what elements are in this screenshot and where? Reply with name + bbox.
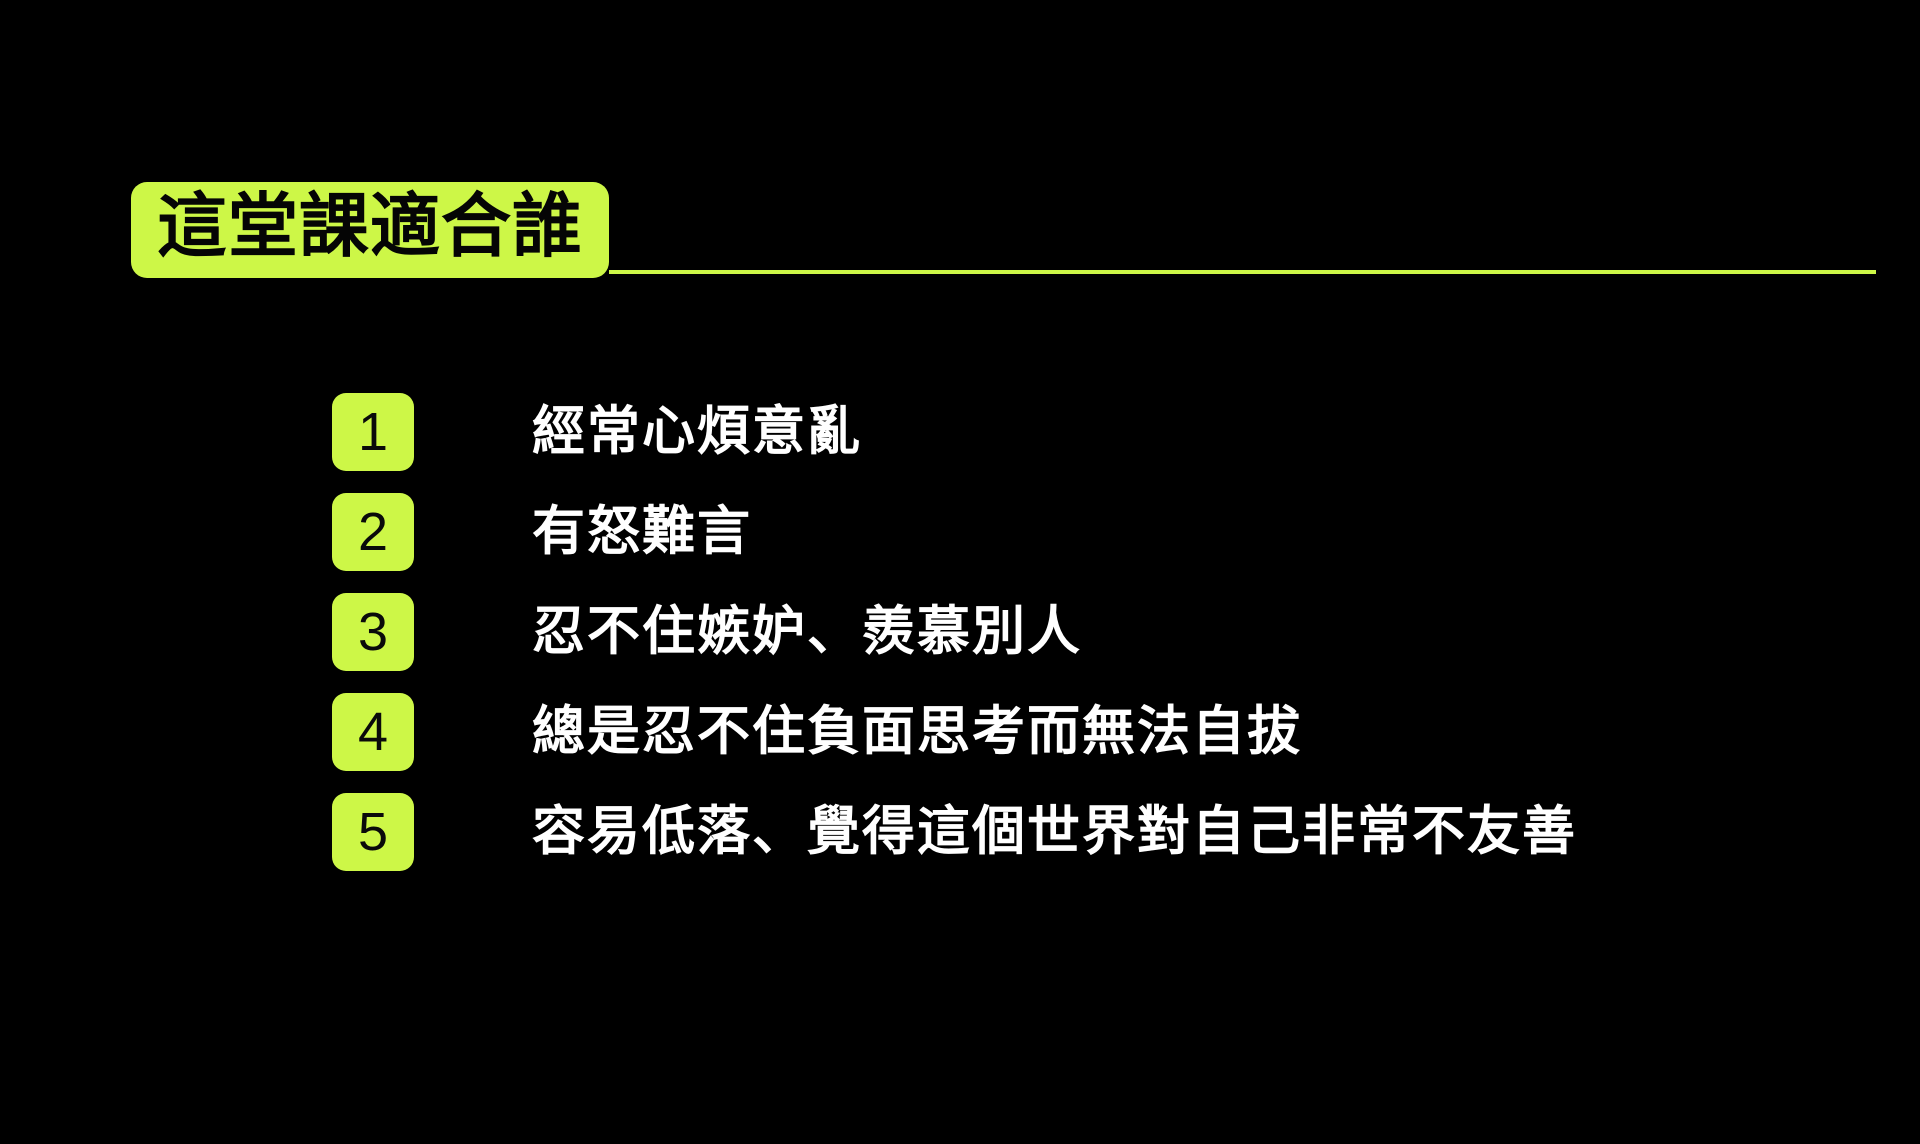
list-item-label: 有怒難言 — [532, 501, 752, 563]
list-item: 4 總是忍不住負面思考而無法自拔 — [332, 683, 1832, 781]
slide-title-badge: 這堂課適合誰 — [131, 182, 609, 278]
list-item-number-badge: 3 — [332, 593, 414, 671]
list-item-number: 1 — [358, 405, 388, 459]
list-item-number-badge: 5 — [332, 793, 414, 871]
list-item-label: 經常心煩意亂 — [532, 401, 862, 463]
list-item-number: 4 — [358, 705, 388, 759]
list-item-label: 容易低落、覺得這個世界對自己非常不友善 — [532, 801, 1577, 863]
qualification-list: 1 經常心煩意亂 2 有怒難言 3 忍不住嫉妒、羨慕別人 4 總是忍不住負面思考… — [332, 383, 1832, 883]
page-title: 這堂課適合誰 — [157, 187, 583, 265]
list-item-number: 5 — [358, 805, 388, 859]
list-item: 1 經常心煩意亂 — [332, 383, 1832, 481]
list-item-label: 忍不住嫉妒、羨慕別人 — [532, 601, 1082, 663]
list-item: 2 有怒難言 — [332, 483, 1832, 581]
list-item: 3 忍不住嫉妒、羨慕別人 — [332, 583, 1832, 681]
list-item-number: 2 — [358, 505, 388, 559]
list-item-number-badge: 1 — [332, 393, 414, 471]
list-item: 5 容易低落、覺得這個世界對自己非常不友善 — [332, 783, 1832, 881]
slide-canvas: 這堂課適合誰 1 經常心煩意亂 2 有怒難言 3 忍不住嫉妒、羨慕別人 4 — [0, 0, 1920, 1144]
list-item-number-badge: 4 — [332, 693, 414, 771]
list-item-number: 3 — [358, 605, 388, 659]
title-divider-line — [609, 270, 1876, 274]
list-item-number-badge: 2 — [332, 493, 414, 571]
slide-title-row: 這堂課適合誰 — [131, 172, 1791, 288]
list-item-label: 總是忍不住負面思考而無法自拔 — [532, 701, 1302, 763]
